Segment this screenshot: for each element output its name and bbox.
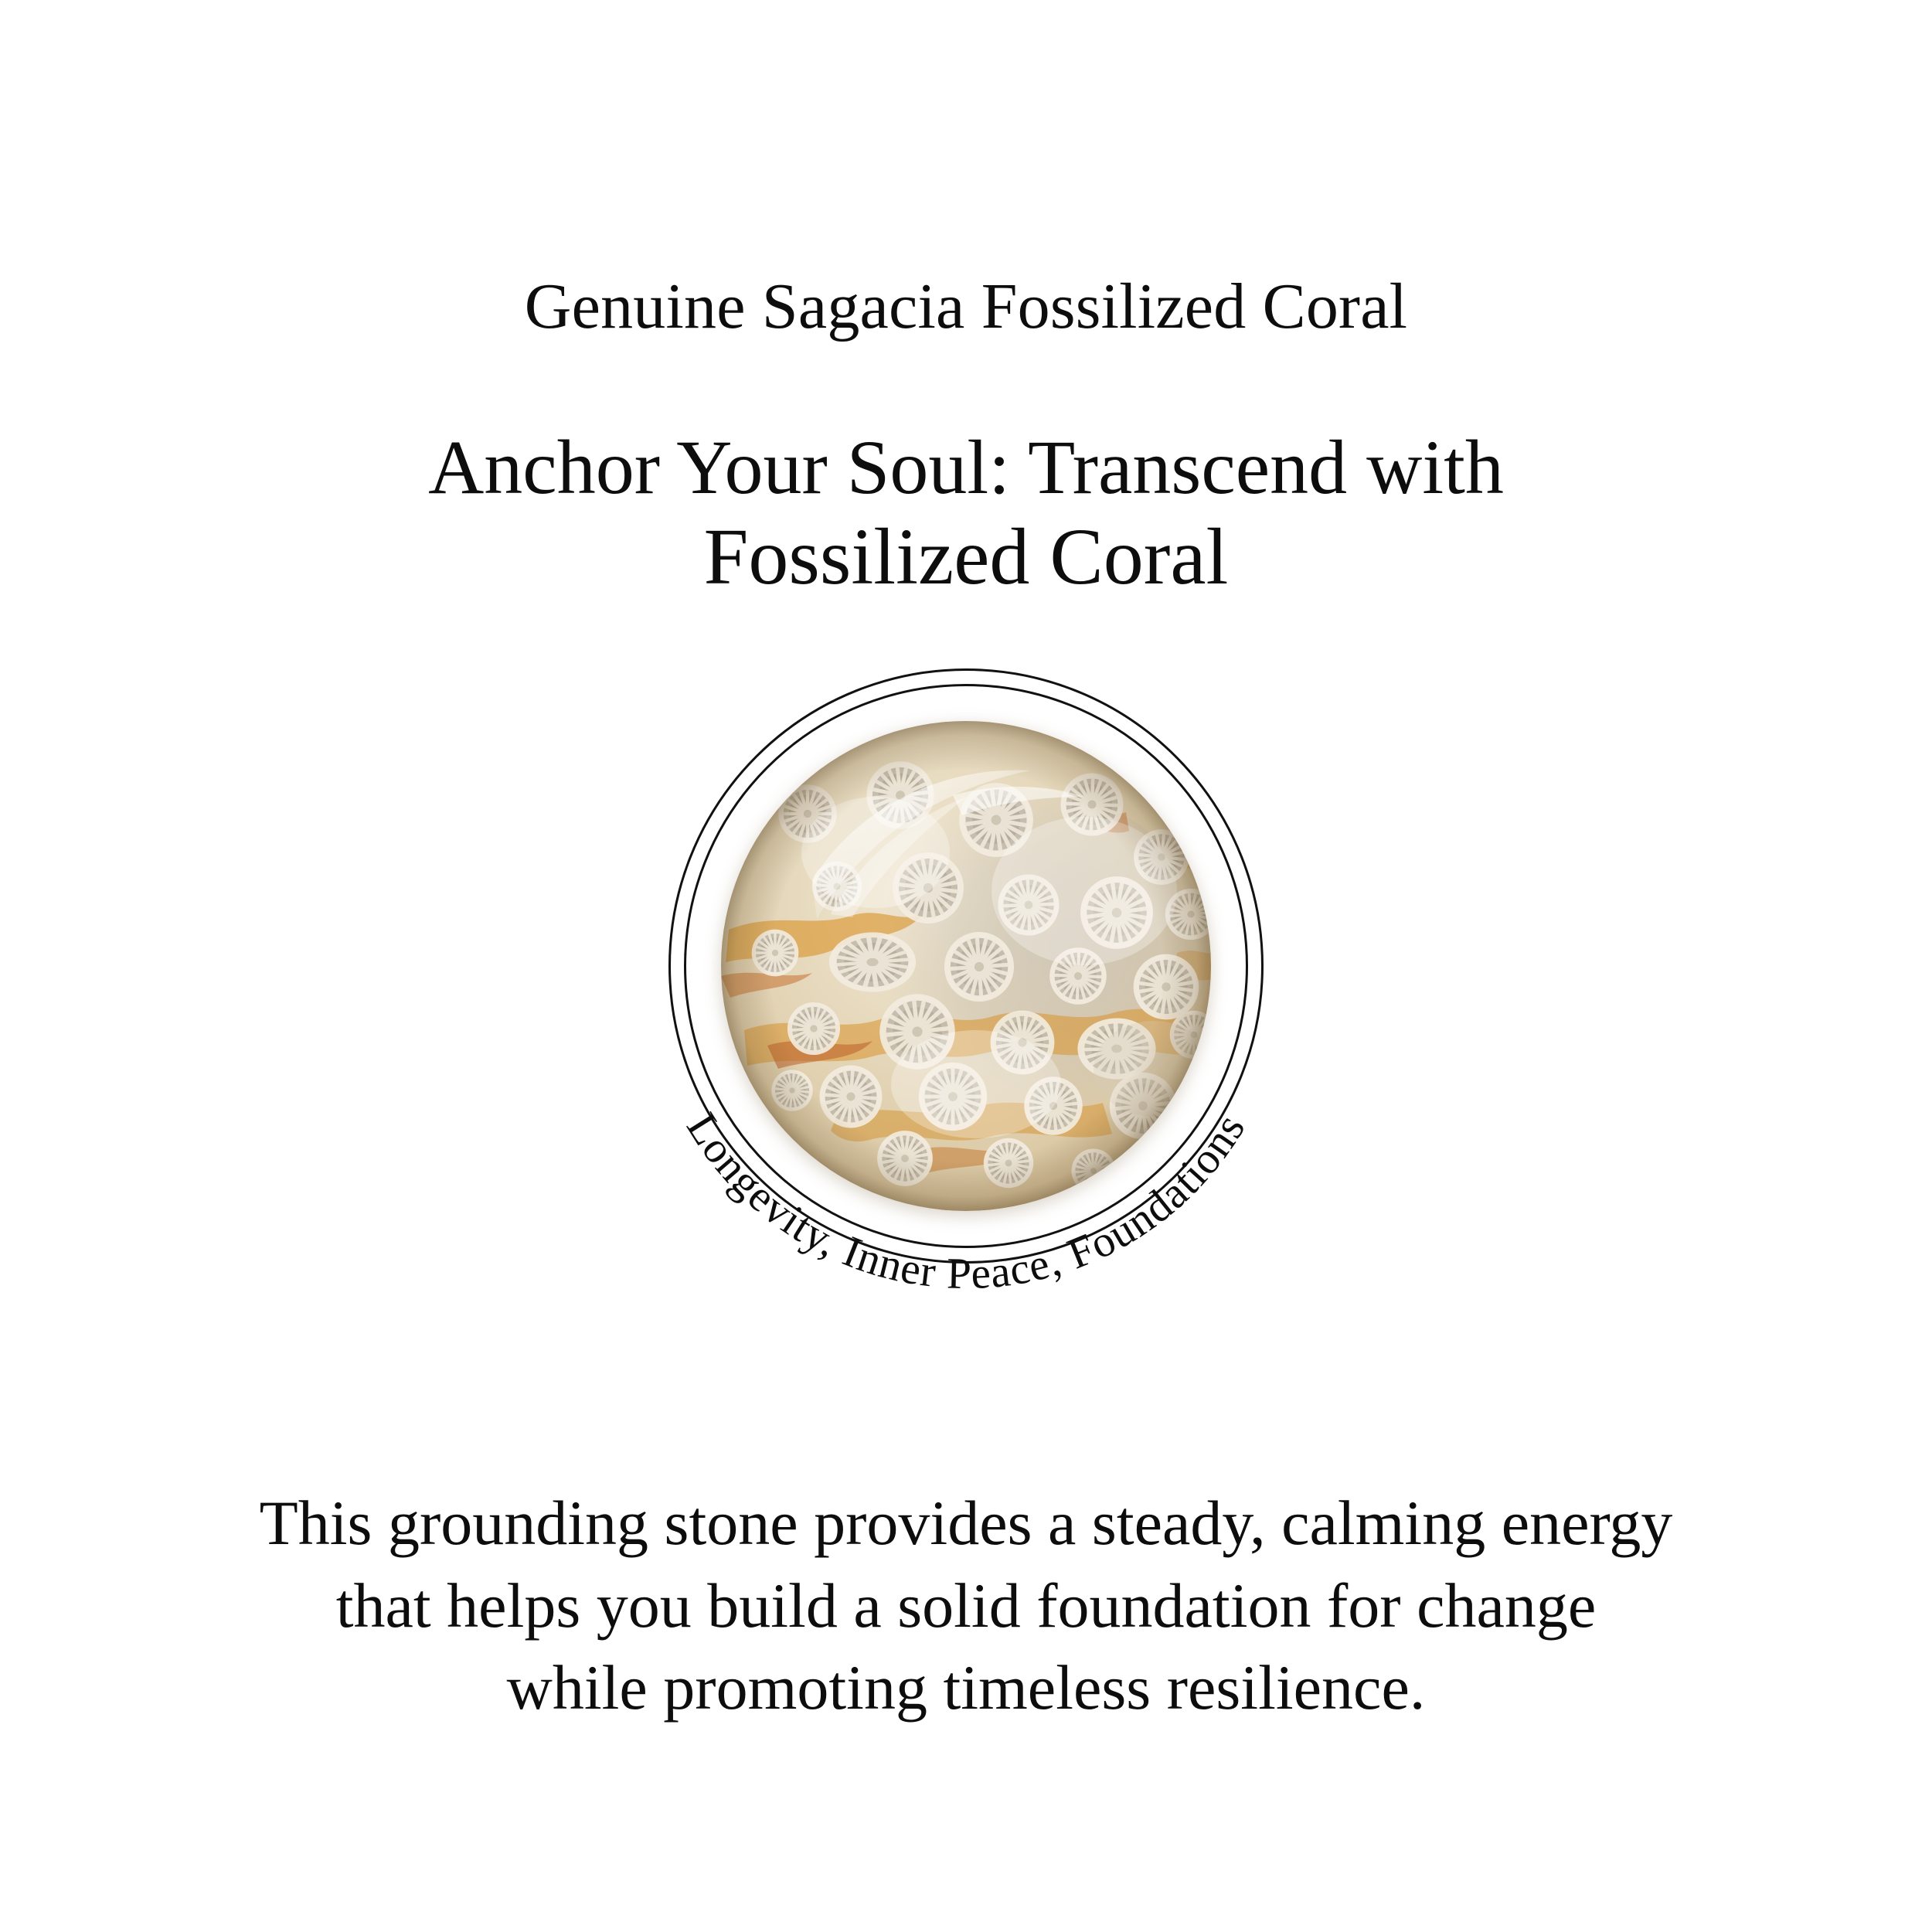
description-line-3: while promoting timeless resilience. [124, 1647, 1808, 1730]
emblem-curved-text: Longevity, Inner Peace, Foundations [603, 603, 1329, 1329]
stone-emblem-inner: Longevity, Inner Peace, Foundations [487, 487, 1445, 1445]
description-paragraph: This grounding stone provides a steady, … [124, 1482, 1808, 1730]
product-graphic-page: Genuine Sagacia Fossilized Coral Anchor … [0, 0, 1932, 1932]
emblem-curved-text-label: Longevity, Inner Peace, Foundations [677, 1105, 1255, 1299]
description-line-1: This grounding stone provides a steady, … [124, 1482, 1808, 1565]
brand-heading: Genuine Sagacia Fossilized Coral [0, 272, 1932, 342]
brand-heading-text: Genuine Sagacia Fossilized Coral [525, 270, 1407, 342]
description-line-2: that helps you build a solid foundation … [124, 1565, 1808, 1648]
emblem-curved-text-path: Longevity, Inner Peace, Foundations [677, 1105, 1255, 1299]
